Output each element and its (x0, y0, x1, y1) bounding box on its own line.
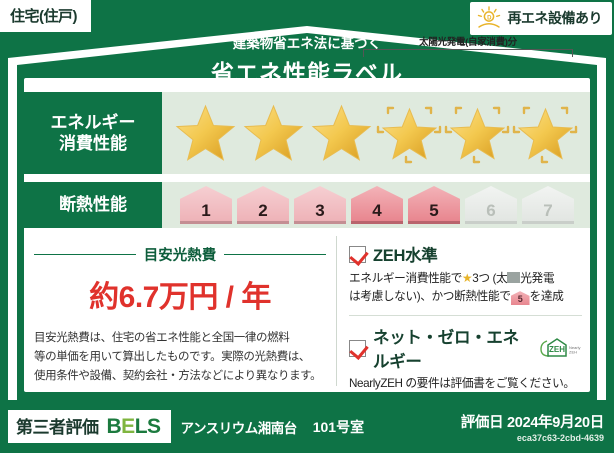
redaction-block (507, 272, 520, 283)
insulation-level-value: 3 (315, 201, 324, 221)
bels-letter-b: B (107, 415, 122, 438)
insulation-level-7: 7 (522, 186, 574, 224)
insulation-level-value: 4 (372, 201, 381, 221)
insulation-level-value: 6 (486, 201, 495, 221)
dwelling-type-label: 住宅(住戸) (10, 8, 77, 25)
bels-letter-l: L (135, 415, 147, 438)
star-4 (376, 100, 443, 166)
insulation-level-3: 3 (294, 186, 346, 224)
energy-performance-label: 住宅(住戸) D 再エネ設備あり 建築物省エネ法に基づく 省エネ性能ラベル (0, 0, 614, 453)
star-sparkle-icon (512, 100, 579, 166)
checkbox-checked-icon (349, 246, 366, 263)
zeh-panel: ZEH水準 エネルギー消費性能で★3つ (太光発電 は考慮しない)、かつ断熱性能… (336, 236, 590, 386)
bels-logo: BELS (107, 415, 161, 439)
zeh-desc-part-c: 光発電 (520, 272, 554, 285)
star-1 (172, 100, 239, 166)
star-5 (444, 100, 511, 166)
insulation-performance-label-cell: 断熱性能 (24, 182, 162, 228)
utility-cost-note-line-1: 目安光熱費は、住宅の省エネ性能と全国一律の燃料 (34, 329, 326, 348)
svg-text:ZEH: ZEH (549, 345, 565, 354)
utility-cost-value: 約6.7万円 / 年 (34, 272, 326, 316)
energy-performance-row: エネルギー 消費性能 太陽光発電(自家消費)分 (24, 92, 590, 174)
star-6 (512, 100, 579, 166)
star-3 (308, 100, 375, 166)
zeh-standard-title: ZEH水準 (373, 242, 438, 266)
zeh-standard-check-row: ZEH水準 (349, 242, 582, 266)
utility-cost-heading-label: 目安光熱費 (144, 244, 217, 265)
star-icon (308, 100, 375, 166)
svg-text:ZEH: ZEH (569, 350, 577, 355)
zeh-standard-description: エネルギー消費性能で★3つ (太光発電 は考慮しない)、かつ断熱性能で5を達成 (349, 269, 582, 306)
lower-section: 目安光熱費 約6.7万円 / 年 目安光熱費は、住宅の省エネ性能と全国一律の燃料… (24, 236, 590, 386)
property-name: アンスリウム湘南台 (181, 417, 297, 437)
energy-label-line2: 消費性能 (51, 133, 136, 154)
energy-stars-area: 太陽光発電(自家消費)分 (162, 92, 590, 174)
insulation-level-value: 2 (258, 201, 267, 221)
bels-letter-e: E (121, 415, 135, 438)
utility-cost-note: 目安光熱費は、住宅の省エネ性能と全国一律の燃料 等の単価を用いて算出したものです… (34, 329, 326, 386)
solar-annotation-bracket (363, 49, 573, 57)
mini-star-icon: ★ (462, 271, 472, 285)
zeh-desc-part-a: エネルギー消費性能で (349, 272, 462, 285)
net-zero-energy-check-row: ネット・ゼロ・エネルギー ZEH Nearly ZEH (349, 324, 582, 372)
insulation-level-value: 5 (429, 201, 438, 221)
insulation-level-4: 4 (351, 186, 403, 224)
solar-annotation-label: 太陽光発電(自家消費)分 (363, 34, 573, 48)
label-footer: 第三者評価 BELS アンスリウム湘南台 101号室 評価日 2024年9月20… (0, 400, 614, 453)
mini-badge-value: 5 (518, 294, 523, 304)
star-rating: 太陽光発電(自家消費)分 (162, 100, 579, 166)
evaluation-date: 評価日 2024年9月20日 (461, 411, 604, 432)
solar-generation-annotation: 太陽光発電(自家消費)分 (363, 34, 573, 57)
insulation-badges-area: 1 2 3 4 5 (162, 182, 590, 228)
net-zero-energy-description: NearlyZEH の要件は評価書をご覧ください。 (349, 375, 582, 393)
zeh-desc-part-d: は考慮しない)、かつ断熱性能で (349, 290, 511, 303)
insulation-level-6: 6 (465, 186, 517, 224)
rule-left (34, 254, 136, 255)
star-sparkle-icon (376, 100, 443, 166)
utility-cost-note-line-2: 等の単価を用いて算出したものです。実際の光熱費は、 (34, 348, 326, 367)
star-2 (240, 100, 307, 166)
dwelling-type-badge: 住宅(住戸) (0, 0, 91, 32)
utility-cost-note-line-3: 使用条件や設備、契約会社・方法などにより異なります。 (34, 367, 326, 386)
utility-cost-panel: 目安光熱費 約6.7万円 / 年 目安光熱費は、住宅の省エネ性能と全国一律の燃料… (24, 236, 336, 386)
third-party-evaluation-label: 第三者評価 (16, 413, 99, 438)
sun-renewable-icon: D (476, 6, 502, 30)
zeh-house-logo-icon: ZEH Nearly ZEH (538, 337, 582, 359)
rule-right (224, 254, 326, 255)
evaluation-id: eca37c63-2cbd-4639 (461, 433, 604, 443)
star-icon (240, 100, 307, 166)
insulation-level-5: 5 (408, 186, 460, 224)
divider (349, 315, 582, 316)
insulation-performance-row: 断熱性能 1 2 3 (24, 182, 590, 228)
energy-performance-label-cell: エネルギー 消費性能 (24, 92, 162, 174)
evaluation-info: 評価日 2024年9月20日 eca37c63-2cbd-4639 (461, 411, 604, 443)
label-content-card: エネルギー 消費性能 太陽光発電(自家消費)分 (24, 78, 590, 392)
renewable-equipment-label: 再エネ設備あり (508, 8, 603, 28)
room-number: 101号室 (313, 417, 364, 437)
insulation-level-2: 2 (237, 186, 289, 224)
renewable-equipment-badge: D 再エネ設備あり (470, 2, 613, 35)
insulation-level-value: 7 (543, 201, 552, 221)
checkbox-checked-icon (349, 340, 366, 357)
bels-letter-s: S (147, 415, 161, 438)
net-zero-energy-title: ネット・ゼロ・エネルギー (373, 324, 531, 372)
zeh-desc-part-b: 3つ (太 (472, 272, 507, 285)
insulation-label: 断熱性能 (59, 194, 127, 215)
star-sparkle-icon (444, 100, 511, 166)
energy-label-line1: エネルギー (51, 112, 136, 133)
bels-certification-box: 第三者評価 BELS (8, 410, 171, 443)
insulation-level-scale: 1 2 3 4 5 (162, 186, 574, 224)
insulation-level-1: 1 (180, 186, 232, 224)
star-icon (172, 100, 239, 166)
mini-insulation-badge-icon: 5 (511, 291, 530, 305)
insulation-level-value: 1 (201, 201, 210, 221)
utility-cost-heading: 目安光熱費 (34, 244, 326, 265)
zeh-desc-part-e: を達成 (530, 290, 564, 303)
